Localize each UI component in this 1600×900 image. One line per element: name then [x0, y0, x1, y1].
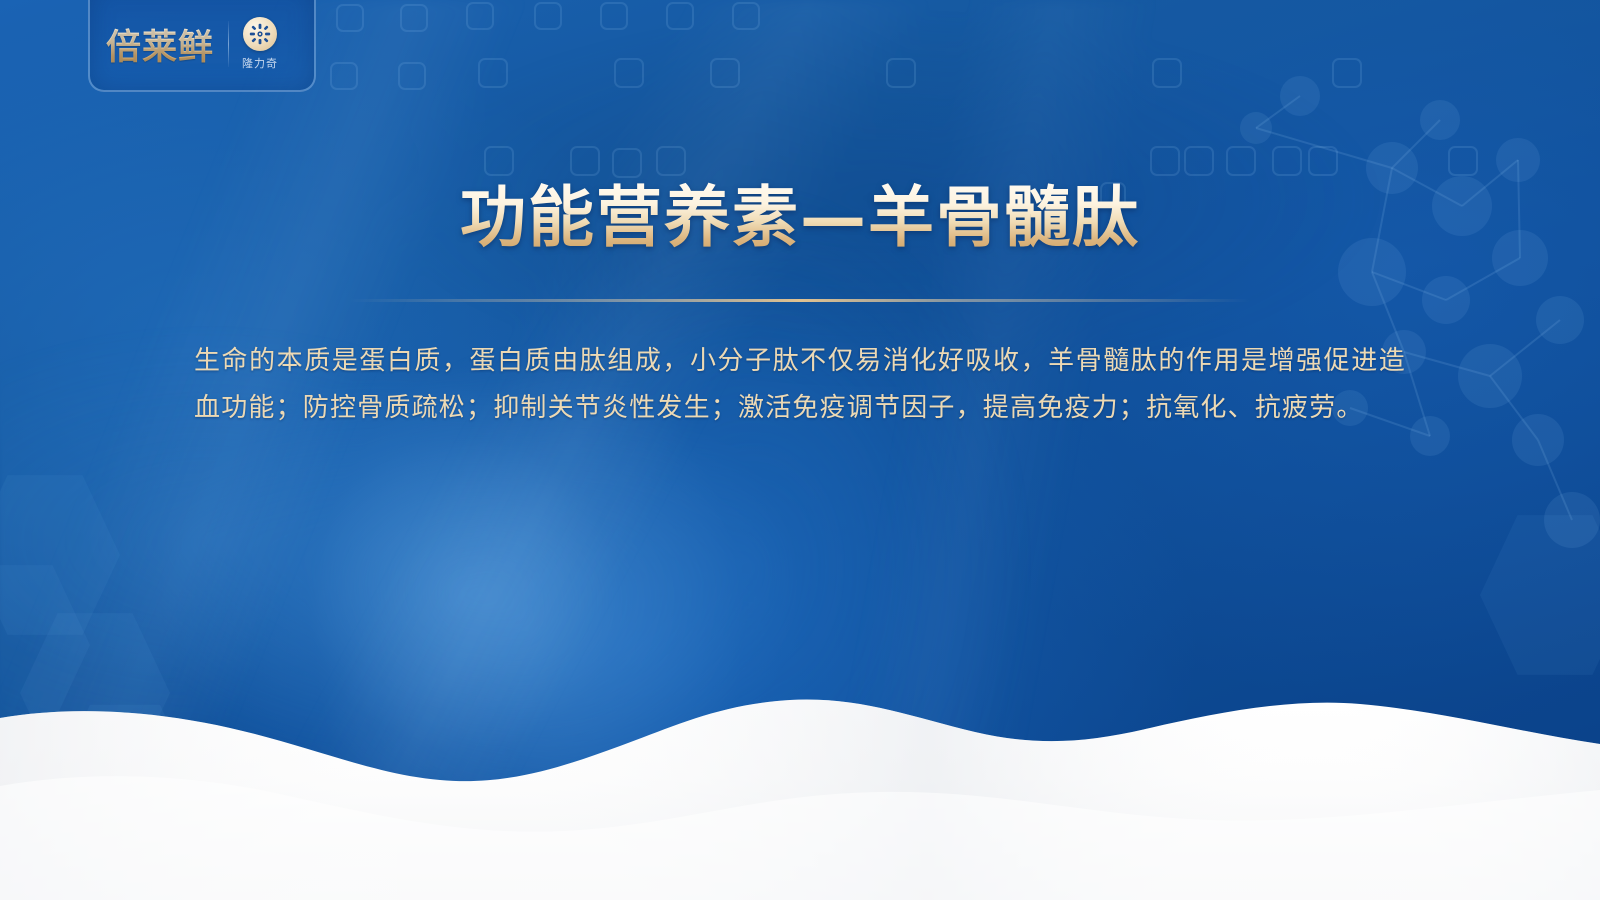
- decor-square-18: [614, 58, 644, 88]
- decor-square-4: [600, 2, 628, 30]
- decor-square-6: [732, 2, 760, 30]
- background-sheen: [0, 0, 1600, 900]
- decorative-hexagons: [0, 0, 1600, 900]
- molecule-node-5: [1422, 276, 1470, 324]
- molecule-bond-4: [1372, 272, 1446, 300]
- decor-square-5: [666, 2, 694, 30]
- milk-wave-graphic: [0, 670, 1600, 900]
- decor-square-11: [1150, 146, 1180, 176]
- decor-square-15: [1308, 146, 1338, 176]
- decorative-molecule-pattern: [0, 0, 1600, 900]
- molecule-bond-5: [1446, 258, 1520, 300]
- decor-square-23: [656, 146, 686, 176]
- decor-square-0: [336, 4, 364, 32]
- molecule-bond-11: [1404, 352, 1430, 436]
- decor-square-16: [1448, 146, 1478, 176]
- partner-badge: 隆力奇: [242, 17, 278, 71]
- molecule-bond-9: [1490, 320, 1560, 376]
- partner-name: 隆力奇: [242, 55, 278, 71]
- title-divider: [350, 299, 1250, 302]
- decorative-squares-pattern: [0, 0, 1600, 900]
- molecule-node-10: [1512, 414, 1564, 466]
- milk-wave-main: [0, 700, 1600, 900]
- decor-square-22: [570, 146, 600, 176]
- decor-square-13: [1226, 146, 1256, 176]
- decor-square-14: [1272, 146, 1302, 176]
- molecule-node-3: [1496, 138, 1540, 182]
- molecule-node-1: [1420, 100, 1460, 140]
- decor-square-9: [330, 62, 358, 90]
- background-photo-blur: [0, 0, 1600, 900]
- decor-square-20: [886, 58, 916, 88]
- molecule-bond-14: [1256, 96, 1300, 128]
- decor-square-24: [612, 148, 642, 178]
- molecule-node-14: [1240, 112, 1272, 144]
- decor-hexagon-2: [0, 560, 90, 730]
- decor-hexagon-4: [1480, 510, 1600, 680]
- decor-square-17: [478, 58, 508, 88]
- molecule-bond-13: [1538, 440, 1572, 520]
- molecule-bond-10: [1490, 376, 1538, 440]
- brand-name: 倍莱鲜: [106, 19, 214, 70]
- decor-square-1: [400, 4, 428, 32]
- decor-square-3: [534, 2, 562, 30]
- decor-square-10: [398, 62, 426, 90]
- molecule-node-11: [1410, 416, 1450, 456]
- logo-separator: [228, 21, 229, 67]
- decor-square-12: [1184, 146, 1214, 176]
- molecule-node-9: [1536, 296, 1584, 344]
- milk-wave-shading: [0, 700, 1600, 900]
- snowflake-emblem-icon: [243, 17, 277, 51]
- milk-wave-front: [0, 776, 1600, 900]
- slide-title: 功能营养素—羊骨髓肽: [0, 182, 1600, 255]
- molecule-node-8: [1458, 344, 1522, 408]
- decor-square-19: [710, 58, 740, 88]
- molecule-node-13: [1544, 492, 1600, 548]
- decor-square-7: [1152, 58, 1182, 88]
- molecule-bond-15: [1256, 128, 1392, 168]
- decor-hexagon-3: [55, 700, 195, 860]
- decor-hexagon-0: [0, 470, 120, 640]
- brand-logo[interactable]: 倍莱鲜: [88, 0, 316, 92]
- molecule-bond-8: [1404, 352, 1490, 376]
- decor-hexagon-1: [20, 608, 170, 778]
- slide-canvas: 倍莱鲜: [0, 0, 1600, 900]
- slide-body-text: 生命的本质是蛋白质，蛋白质由肽组成，小分子肽不仅易消化好吸收，羊骨髓肽的作用是增…: [194, 338, 1406, 432]
- molecule-bond-0: [1392, 120, 1440, 168]
- decor-square-8: [1332, 58, 1362, 88]
- molecule-node-15: [1280, 76, 1320, 116]
- decor-square-2: [466, 2, 494, 30]
- decor-square-21: [484, 146, 514, 176]
- background-base-gradient: [0, 0, 1600, 900]
